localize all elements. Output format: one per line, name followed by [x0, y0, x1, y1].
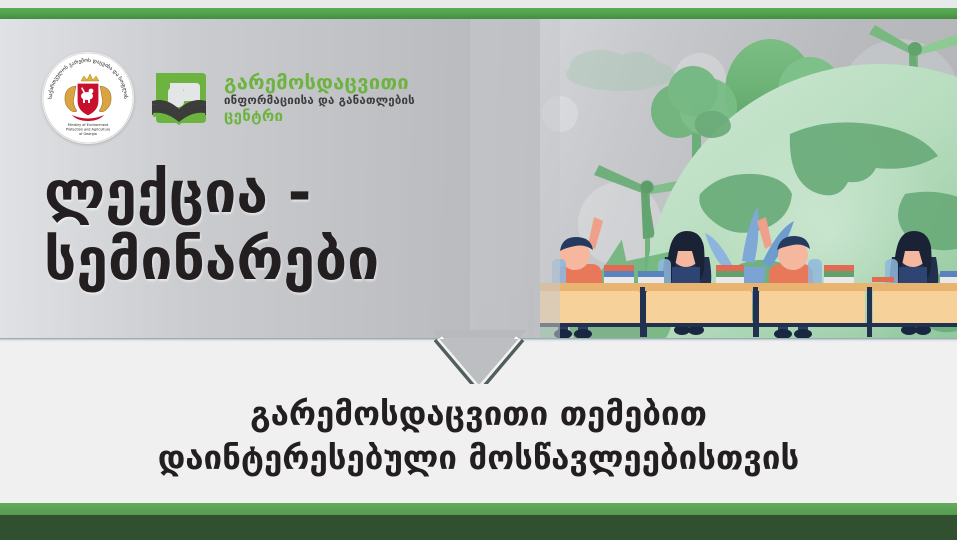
poster-root: საქართველოს გარემოს დაცვისა და სოფლის: [0, 0, 957, 540]
svg-text:of Georgia: of Georgia: [79, 132, 97, 136]
cloud-icon: [566, 50, 674, 91]
georgia-ministry-coat-of-arms-icon: საქართველოს გარემოს დაცვისა და სოფლის: [42, 52, 134, 144]
v-notch-divider: [424, 330, 534, 384]
page-subtitle: გარემოსდაცვითი თემებით დაინტერესებული მო…: [0, 392, 957, 479]
books-stack: [604, 265, 634, 283]
bottom-dark-green-rule: [0, 515, 957, 540]
svg-text:Protection and Agriculture: Protection and Agriculture: [66, 127, 110, 131]
books-stack: [940, 271, 957, 283]
books-stack: [824, 265, 854, 283]
brand-lockup: საქართველოს გარემოს დაცვისა და სოფლის: [42, 52, 415, 144]
top-white-margin: [0, 0, 957, 8]
brand-line-2: ინფორმაციისა და განათლების: [224, 95, 415, 107]
brand-line-3: ცენტრი: [224, 109, 415, 124]
top-green-rule: [0, 8, 957, 19]
brand-text: გარემოსდაცვითი ინფორმაციისა და განათლები…: [224, 72, 415, 124]
books-stack: [716, 265, 744, 283]
page-title: ლექცია - სემინარები: [44, 160, 379, 295]
svg-text:Ministry of Environment: Ministry of Environment: [68, 123, 109, 127]
bottom-light-green-rule: [0, 503, 957, 515]
brand-line-1: გარემოსდაცვითი: [224, 72, 415, 92]
books-stack: [638, 271, 664, 283]
open-book-logo-icon: [148, 67, 210, 129]
hero-section: საქართველოს გარემოს დაცვისა და სოფლის: [0, 19, 957, 338]
books-stack: [872, 277, 894, 282]
